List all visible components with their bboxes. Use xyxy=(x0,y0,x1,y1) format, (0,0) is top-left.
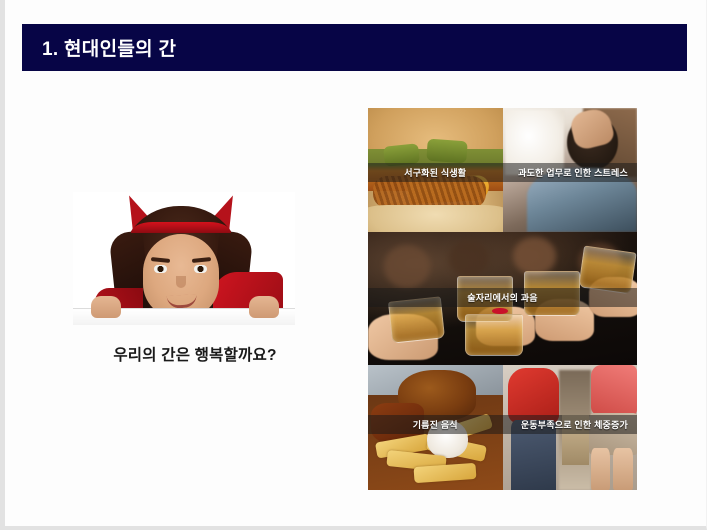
nose xyxy=(176,276,186,288)
eye-right xyxy=(194,265,207,273)
hand-right xyxy=(249,296,279,318)
hand-left xyxy=(91,296,121,318)
collage-cell-weight-gain: 운동부족으로 인한 체중증가 xyxy=(503,365,638,490)
eye-left xyxy=(154,265,167,273)
leg xyxy=(613,448,633,491)
devil-horn-woman-photo xyxy=(73,192,295,322)
collage-caption: 운동부족으로 인한 체중증가 xyxy=(503,415,638,434)
page-title: 1. 현대인들의 간 xyxy=(22,34,176,61)
slide-canvas: 1. 현대인들의 간 우리의 간은 행복할까요? xyxy=(0,0,707,530)
photo-collage: 서구화된 식생활 과도한 업무로 인한 스트레스 xyxy=(368,108,637,490)
potato-wedge xyxy=(413,463,476,484)
left-content-panel: 우리의 간은 행복할까요? xyxy=(35,100,355,500)
collage-row-middle: 술자리에서의 과음 xyxy=(368,232,637,365)
collage-cell-work-stress: 과도한 업무로 인한 스트레스 xyxy=(503,108,638,232)
pickle-slice xyxy=(426,139,468,164)
blurred-face xyxy=(513,237,556,274)
tagline-text: 우리의 간은 행복할까요? xyxy=(35,343,355,365)
blurred-face xyxy=(449,240,489,277)
collage-cell-binge-drinking: 술자리에서의 과음 xyxy=(368,232,637,365)
whiskey-glass xyxy=(465,314,523,356)
collage-row-top: 서구화된 식생활 과도한 업무로 인한 스트레스 xyxy=(368,108,637,232)
pink-shirt-person xyxy=(591,365,637,415)
collage-caption: 기름진 음식 xyxy=(368,415,503,434)
collage-cell-western-diet: 서구화된 식생활 xyxy=(368,108,503,232)
collage-caption: 과도한 업무로 인한 스트레스 xyxy=(503,163,638,182)
slide-title-bar: 1. 현대인들의 간 xyxy=(22,24,687,71)
bun-bottom xyxy=(368,205,503,232)
collage-caption: 서구화된 식생활 xyxy=(368,163,503,182)
collage-row-bottom: 기름진 음식 운동부족으로 인한 체중증가 xyxy=(368,365,637,490)
leg xyxy=(591,448,610,491)
collage-caption: 술자리에서의 과음 xyxy=(368,288,637,307)
horn-headband xyxy=(131,222,231,233)
collage-cell-greasy-food: 기름진 음식 xyxy=(368,365,503,490)
blurred-face xyxy=(384,245,430,288)
